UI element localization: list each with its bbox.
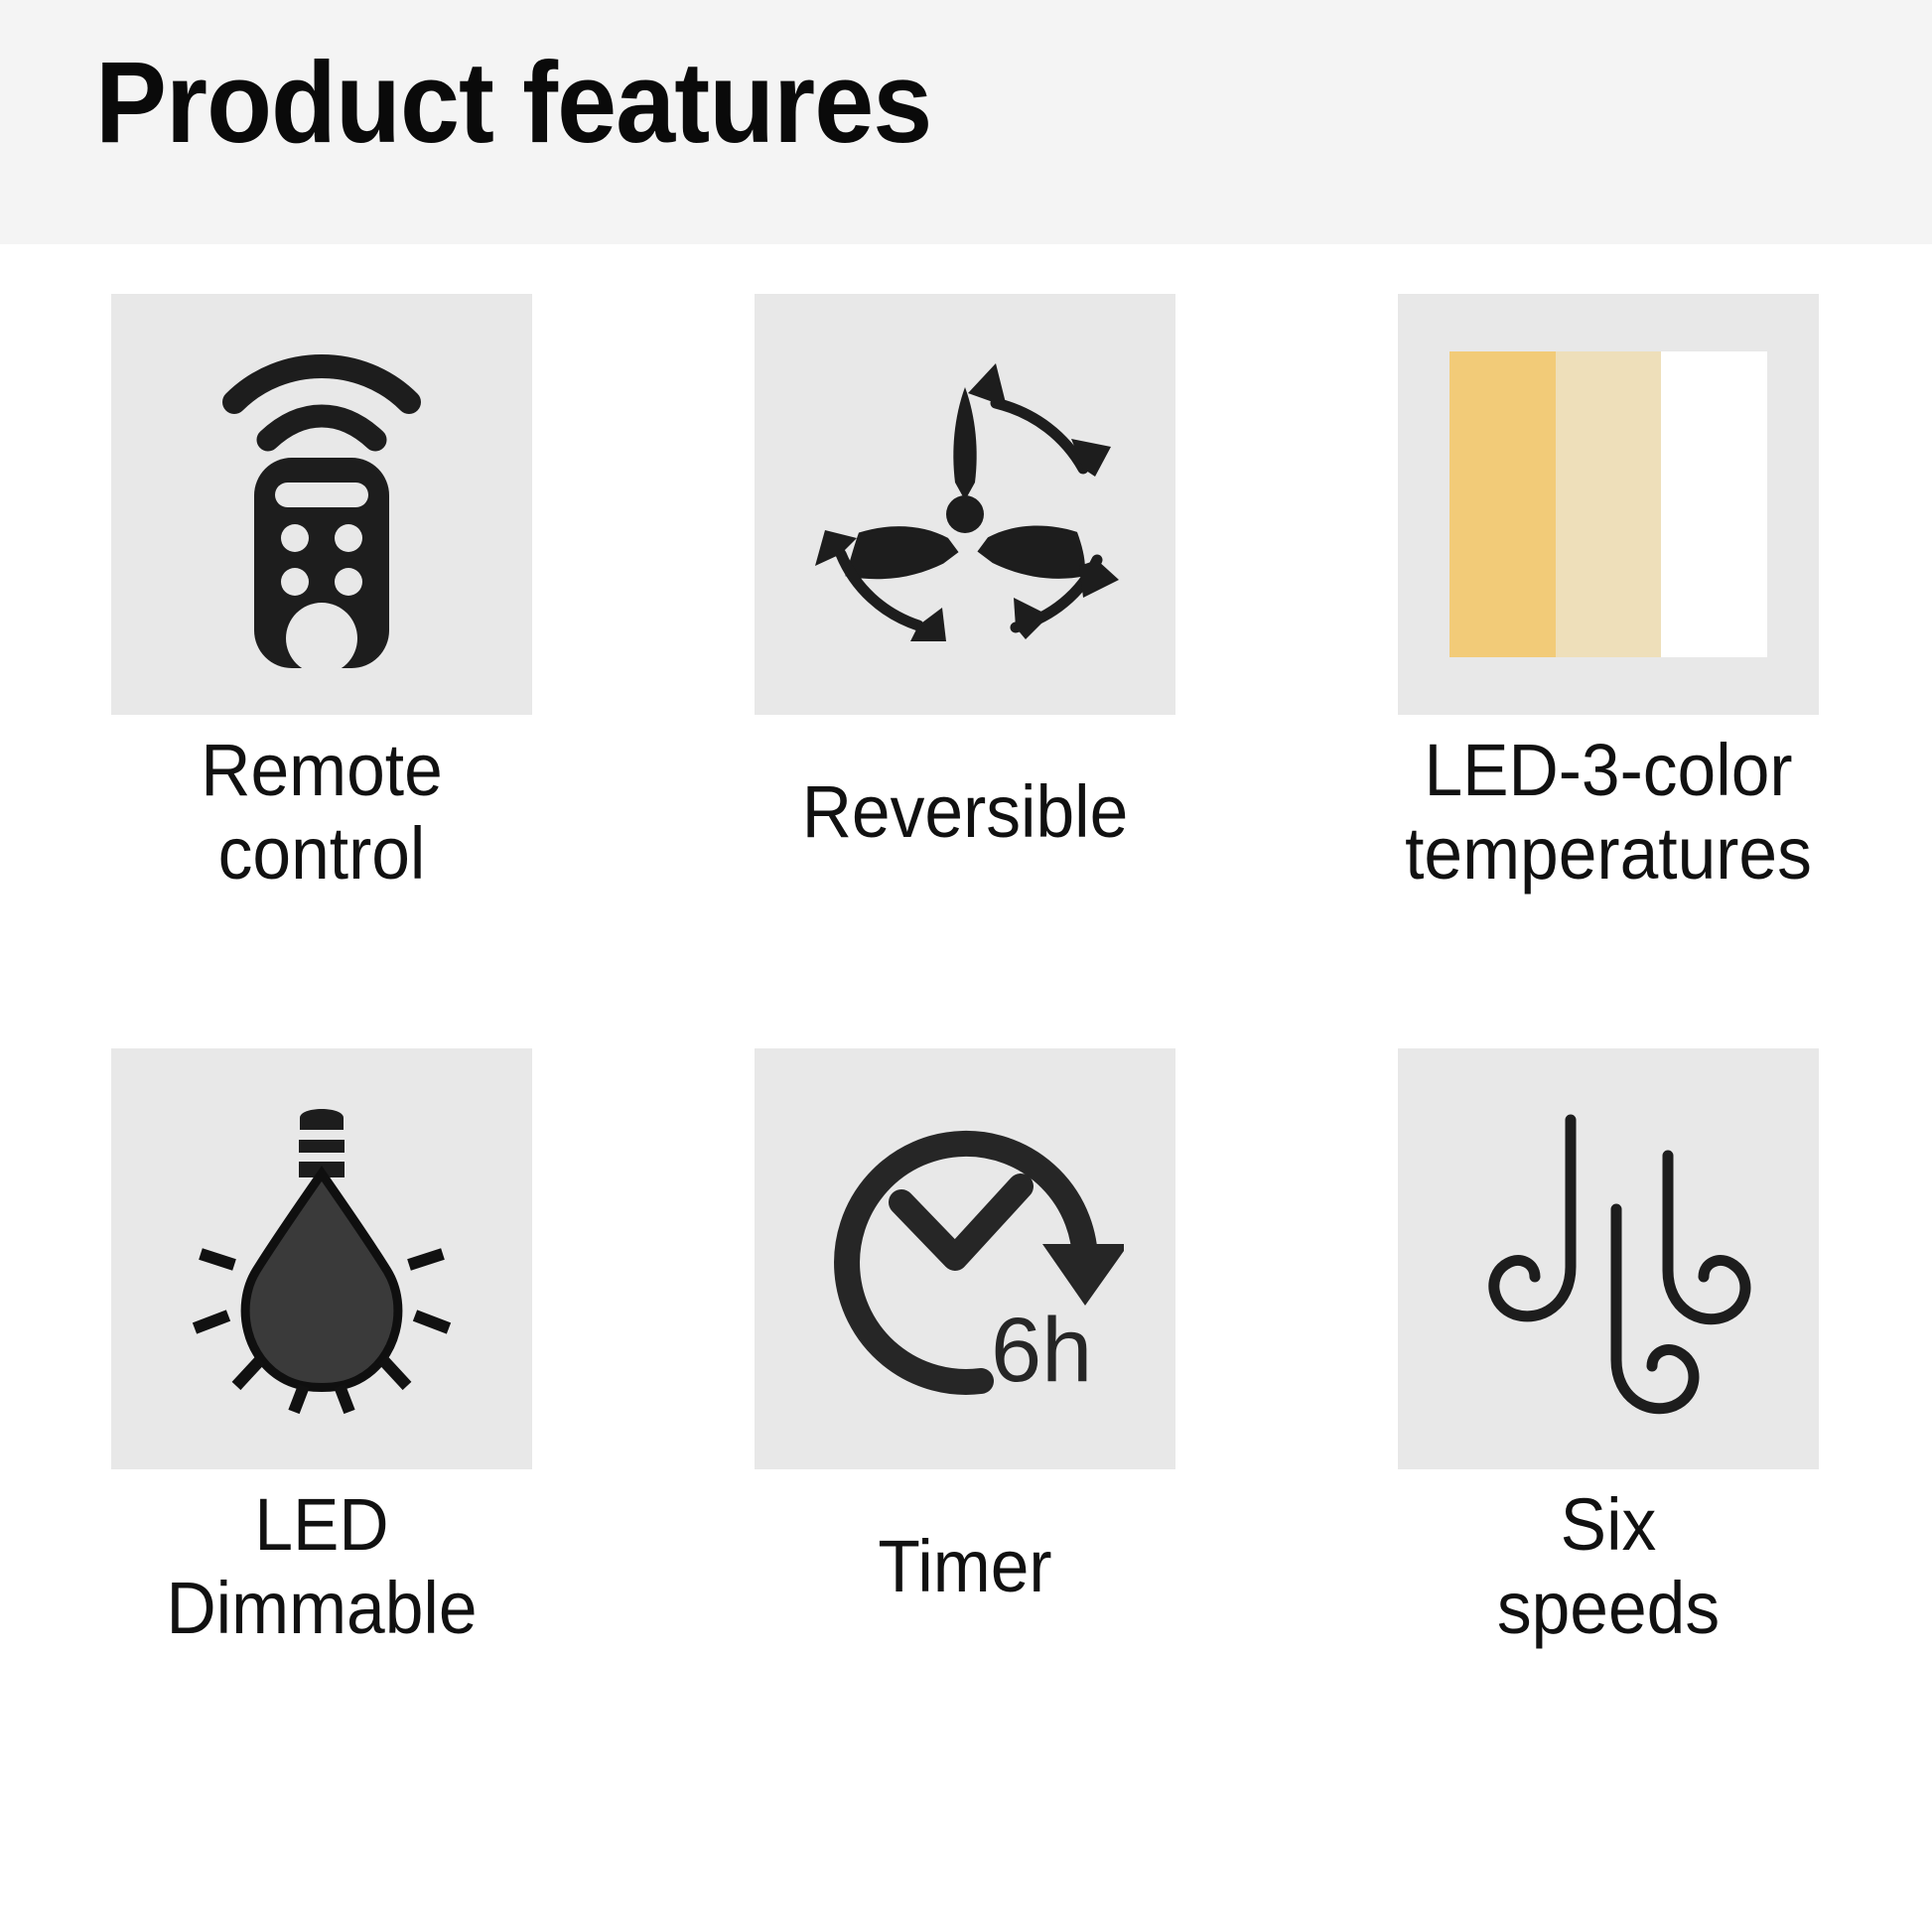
page-title: Product features [95,28,931,177]
icon-tile [111,1048,532,1469]
feature-label: Six speeds [1306,1483,1910,1650]
feature-label: LED-3-color temperatures [1306,729,1910,896]
icon-tile: 6h [755,1048,1175,1469]
feature-label: LED Dimmable [19,1483,623,1650]
feature-label: Timer [662,1483,1267,1608]
airflow-swirls-icon [1459,1100,1757,1418]
feature-cell-timer[interactable]: 6h Timer [643,999,1287,1793]
icon-tile [111,294,532,715]
feature-cell-remote-control[interactable]: Remote control [0,244,643,1038]
header-band: Product features [0,0,1932,244]
timer-clock-icon: 6h [806,1115,1124,1403]
light-bulb-icon [173,1100,471,1418]
features-grid: Remote control [0,244,1932,1932]
swatch-warm-white [1449,351,1556,657]
feature-cell-led-dimmable[interactable]: LED Dimmable [0,999,643,1793]
icon-tile [1398,294,1819,715]
feature-cell-reversible[interactable]: Reversible [643,244,1287,1038]
color-temperature-swatches-icon [1449,351,1767,657]
feature-cell-six-speeds[interactable]: Six speeds [1287,999,1930,1793]
feature-label: Reversible [662,729,1267,854]
swatch-cool-white [1661,351,1767,657]
feature-cell-led-3-color-temperatures[interactable]: LED-3-color temperatures [1287,244,1930,1038]
swatch-natural-white [1556,351,1662,657]
icon-tile [1398,1048,1819,1469]
timer-badge-text: 6h [991,1300,1092,1401]
reversible-fan-icon [801,355,1129,653]
icon-tile [755,294,1175,715]
feature-label: Remote control [19,729,623,896]
remote-control-icon [173,341,471,668]
